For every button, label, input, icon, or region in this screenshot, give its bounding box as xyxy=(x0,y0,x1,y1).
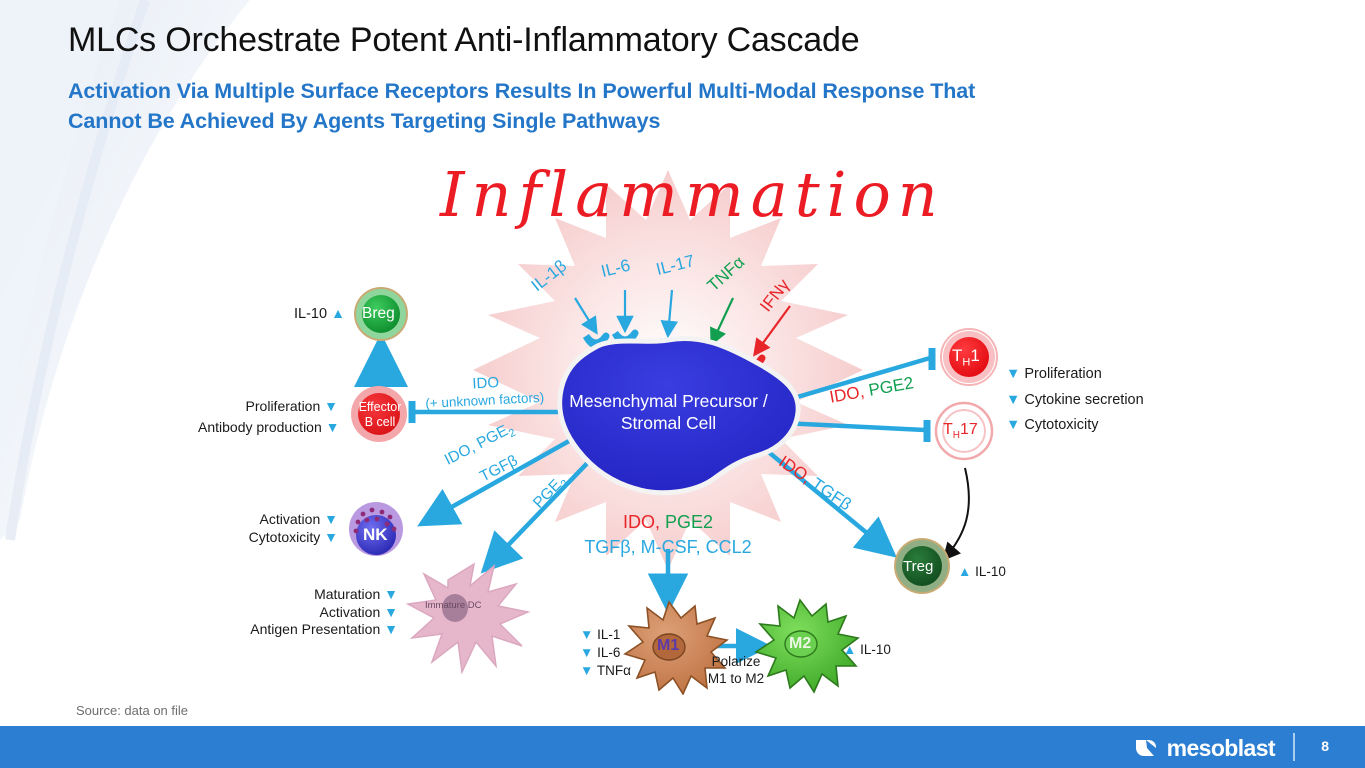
m1-effect-0: IL-1 xyxy=(597,627,620,642)
down-arrow-icon: ▼ xyxy=(384,586,398,602)
down-arrow-icon: ▼ xyxy=(1006,392,1020,408)
nk-effects: Activation ▼ Cytotoxicity ▼ xyxy=(198,510,338,546)
breg-effect-label: IL-10 xyxy=(294,306,327,322)
th17-name-main: T xyxy=(943,421,953,438)
page-subtitle-line1: Activation Via Multiple Surface Receptor… xyxy=(68,79,975,103)
down-arrow-icon: ▼ xyxy=(324,529,338,545)
mediator-ido-th: IDO xyxy=(828,383,861,407)
effector-b-effect-1: Antibody production xyxy=(198,419,322,435)
m2-effect-il10: ▲ IL-10 xyxy=(843,642,891,657)
effector-b-line2: B cell xyxy=(365,415,396,429)
down-arrow-icon: ▼ xyxy=(1006,417,1020,433)
connector-th17-to-treg xyxy=(945,468,969,558)
footer-divider xyxy=(1293,733,1295,761)
up-arrow-icon: ▲ xyxy=(331,305,345,321)
page-number: 8 xyxy=(1321,738,1329,754)
m1-effect-1: IL-6 xyxy=(597,645,620,660)
th17-cell-label: TH17 xyxy=(943,421,978,441)
th1-cell-label: TH1 xyxy=(952,346,980,368)
down-arrow-icon: ▼ xyxy=(1006,366,1020,382)
page-subtitle: Activation Via Multiple Surface Receptor… xyxy=(68,76,1248,136)
inflammation-label: Inflammation xyxy=(440,158,945,231)
m1-effects: ▼ IL-1 ▼ IL-6 ▼ TNFα xyxy=(580,626,631,680)
source-note: Source: data on file xyxy=(76,703,188,718)
brand-logo: mesoblast xyxy=(1134,736,1275,760)
polarize-label: Polarize M1 to M2 xyxy=(700,653,772,687)
central-cell-line1: Mesenchymal Precursor / xyxy=(569,391,767,411)
nk-effect-1: Cytotoxicity xyxy=(249,529,321,545)
mediator-ido-mac: IDO xyxy=(623,512,655,532)
dc-effect-0: Maturation xyxy=(314,586,380,602)
down-arrow-icon: ▼ xyxy=(384,621,398,637)
anti-inflammatory-cascade-diagram: Inflammation Mesenchymal Precursor / Str… xyxy=(0,150,1365,695)
treg-cell-label: Treg xyxy=(903,558,933,575)
effector-b-line1: Effector xyxy=(359,400,402,414)
dc-effects: Maturation ▼ Activation ▼ Antigen Presen… xyxy=(198,586,398,639)
breg-effect-il10: IL-10 ▲ xyxy=(294,305,345,322)
effector-b-effects: Proliferation ▼ Antibody production ▼ xyxy=(198,396,338,438)
mediator-to-macrophage: IDO, PGE2 TGFβ, M-CSF, CCL2 xyxy=(568,510,768,560)
central-cell-line2: Stromal Cell xyxy=(621,413,716,433)
nk-effect-0: Activation xyxy=(260,511,321,527)
central-cell-label: Mesenchymal Precursor / Stromal Cell xyxy=(561,390,776,434)
m2-cell-label: M2 xyxy=(789,635,811,653)
breg-cell-label: Breg xyxy=(362,305,395,323)
polarize-line1: Polarize xyxy=(712,654,761,669)
t-cell-effects: ▼ Proliferation ▼ Cytokine secretion ▼ C… xyxy=(1006,362,1144,439)
th1-name-tail: 1 xyxy=(970,346,979,365)
down-arrow-icon: ▼ xyxy=(580,627,593,642)
page-subtitle-line2: Cannot Be Achieved By Agents Targeting S… xyxy=(68,109,660,133)
th17-name-tail: 17 xyxy=(960,421,978,438)
brand-name: mesoblast xyxy=(1167,735,1275,762)
down-arrow-icon: ▼ xyxy=(324,511,338,527)
dc-cell-label: Immature DC xyxy=(425,600,481,611)
immature-dendritic-cell xyxy=(408,564,528,672)
t-cell-effect-1: Cytokine secretion xyxy=(1024,392,1143,408)
m2-effect-0: IL-10 xyxy=(860,642,891,657)
dc-effect-2: Antigen Presentation xyxy=(250,621,380,637)
th17-name-sub: H xyxy=(953,430,960,441)
mediator-pge2-mac: PGE2 xyxy=(665,512,713,532)
mesoblast-leaf-icon xyxy=(1134,736,1158,760)
up-arrow-icon: ▲ xyxy=(958,564,971,579)
mediator-sep-mac: , xyxy=(655,512,665,532)
effector-b-effect-0: Proliferation xyxy=(246,398,321,414)
down-arrow-icon: ▼ xyxy=(580,645,593,660)
down-arrow-icon: ▼ xyxy=(326,419,340,435)
nk-cell-label: NK xyxy=(363,525,388,545)
page-title: MLCs Orchestrate Potent Anti-Inflammator… xyxy=(68,18,1168,62)
down-arrow-icon: ▼ xyxy=(324,398,338,414)
down-arrow-icon: ▼ xyxy=(384,604,398,620)
t-cell-effect-2: Cytotoxicity xyxy=(1024,417,1098,433)
down-arrow-icon: ▼ xyxy=(580,663,593,678)
treg-effect-0: IL-10 xyxy=(975,564,1006,579)
dc-effect-1: Activation xyxy=(320,604,381,620)
polarize-line2: M1 to M2 xyxy=(708,671,764,686)
effector-b-cell-label: Effector B cell xyxy=(352,400,408,430)
th1-name-main: T xyxy=(952,346,962,365)
mediator-tgfb-mcsf-ccl2: TGFβ, M-CSF, CCL2 xyxy=(568,535,768,560)
t-cell-effect-0: Proliferation xyxy=(1024,366,1101,382)
m1-cell-label: M1 xyxy=(657,637,679,655)
up-arrow-icon: ▲ xyxy=(843,642,856,657)
m1-effect-2: TNFα xyxy=(597,663,631,678)
treg-effect-il10: ▲ IL-10 xyxy=(958,564,1006,579)
mediator-to-b-cell: IDO (+ unknown factors) xyxy=(424,372,545,412)
